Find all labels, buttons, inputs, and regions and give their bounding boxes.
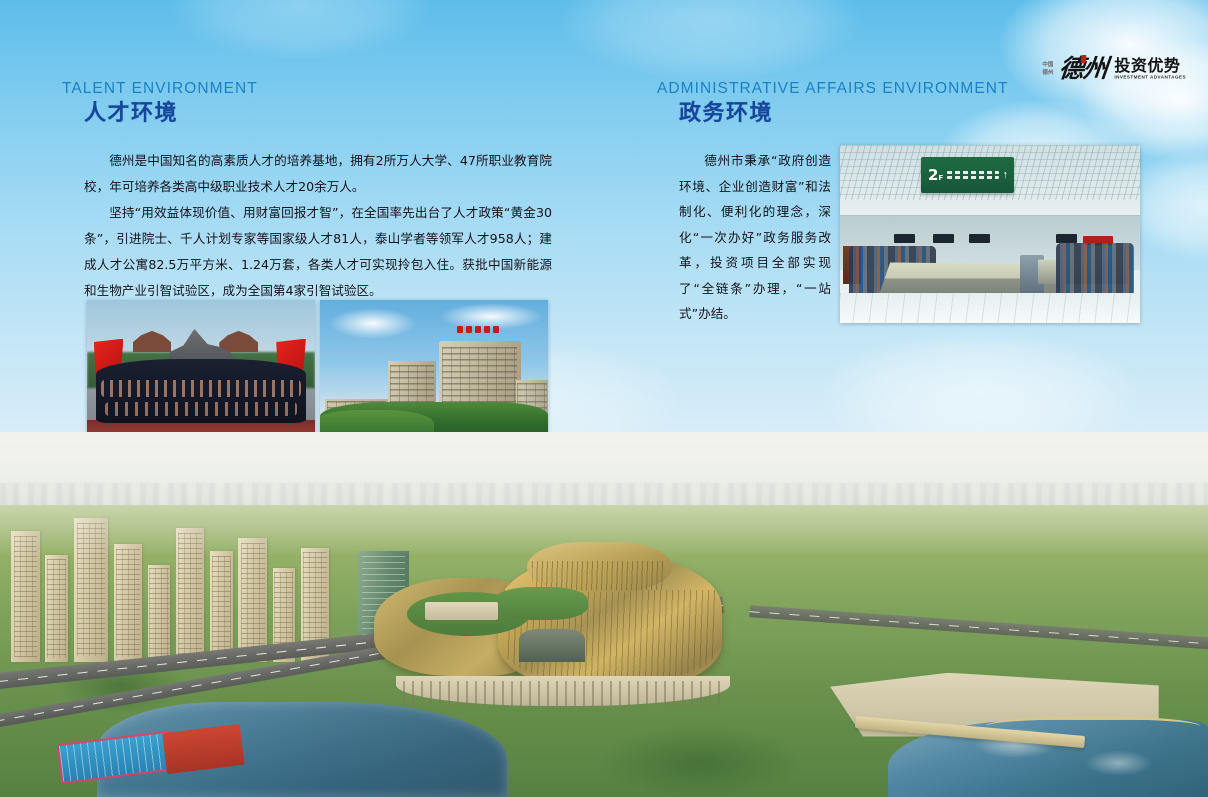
- talent-apartment-photo: [320, 300, 548, 438]
- floor-direction-sign: 2F ↑: [921, 157, 1014, 193]
- dezhou-city-aerial-panorama: [0, 432, 1208, 797]
- apartment-block: [114, 544, 142, 662]
- section-administrative-environment: ADMINISTRATIVE AFFAIRS ENVIRONMENT 政务环境 …: [657, 80, 1157, 129]
- arrow-up-icon: ↑: [1003, 169, 1015, 181]
- rooftop-char: [493, 326, 499, 333]
- service-hall-photo: 2F ↑: [840, 145, 1140, 323]
- photo-monitor: [1056, 234, 1077, 243]
- photo-monitor: [933, 234, 954, 243]
- section-title-en-administrative: ADMINISTRATIVE AFFAIRS ENVIRONMENT: [657, 80, 1157, 98]
- rooftop-char: [484, 326, 490, 333]
- rooftop-char: [475, 326, 481, 333]
- running-track: [162, 723, 245, 774]
- apartment-block: [11, 531, 39, 662]
- photo-queue-people-right: [1056, 243, 1134, 296]
- apartment-block: [176, 528, 204, 662]
- floor-number: 2F: [921, 168, 943, 183]
- section-title-cn-talent: 人才环境: [84, 99, 562, 129]
- apartment-block: [148, 565, 171, 662]
- brochure-page: 中国 德州 德州 投资优势 INVESTMENT ADVANTAGES TALE…: [0, 0, 1208, 797]
- sign-text-line: [947, 171, 998, 174]
- logo-seal-line-1: 中国: [1042, 62, 1053, 68]
- photo-rooftop-sign: [443, 326, 514, 333]
- apartment-block: [74, 518, 108, 662]
- cloud-decoration: [170, 0, 430, 60]
- talent-paragraph-2: 坚持“用效益体现价值、用财富回报才智”，在全国率先出台了人才政策“黄金30条”，…: [84, 200, 552, 304]
- section-title-en-talent: TALENT ENVIRONMENT: [62, 80, 562, 98]
- photo-crowd-faces-row-1: [101, 380, 302, 397]
- rooftop-char: [466, 326, 472, 333]
- culture-center-roof-box: [425, 602, 497, 620]
- logo-seal-mark: 中国 德州: [1040, 56, 1055, 82]
- logo-tagline-group: 投资优势 INVESTMENT ADVANTAGES: [1114, 57, 1186, 81]
- section-talent-environment: TALENT ENVIRONMENT 人才环境 德州是中国知名的高素质人才的培养…: [62, 80, 562, 129]
- swimming-pool: [57, 730, 176, 784]
- panorama-golden-culture-center: [374, 542, 736, 710]
- apartment-block: [45, 555, 68, 662]
- panorama-riverside-plaza: [797, 629, 1208, 797]
- photo-cloud: [329, 308, 416, 338]
- sign-text-lines: [943, 171, 1002, 179]
- section-title-cn-administrative: 政务环境: [679, 99, 1157, 129]
- logo-tagline-cn: 投资优势: [1114, 57, 1186, 74]
- talent-group-photo: [87, 300, 315, 438]
- culture-center-entrance: [519, 629, 584, 663]
- logo-city-name: 德州: [1058, 56, 1109, 82]
- administrative-paragraph-1: 德州市秉承“政府创造环境、企业创造财富”和法制化、便利化的理念，深化“一次办好”…: [679, 148, 831, 327]
- logo-seal-line-2: 德州: [1042, 70, 1053, 76]
- floor-number-value: 2: [928, 166, 938, 184]
- administrative-body-text: 德州市秉承“政府创造环境、企业创造财富”和法制化、便利化的理念，深化“一次办好”…: [679, 148, 831, 327]
- talent-body-text: 德州是中国知名的高素质人才的培养基地，拥有2所万人大学、47所职业教育院校，年可…: [84, 148, 552, 304]
- photo-monitor: [969, 234, 990, 243]
- culture-center-rooftop-volume: [527, 542, 672, 592]
- apartment-block: [238, 538, 266, 662]
- photo-monitor: [894, 234, 915, 243]
- rooftop-char: [457, 326, 463, 333]
- apartment-block: [210, 551, 233, 662]
- cloud-decoration: [560, 0, 860, 80]
- photo-crowd-faces-row-2: [105, 402, 297, 416]
- sign-text-line: [947, 176, 998, 179]
- culture-center-green-roof-2: [494, 587, 588, 621]
- culture-center-colonnade: [396, 676, 729, 706]
- talent-paragraph-1: 德州是中国知名的高素质人才的培养基地，拥有2所万人大学、47所职业教育院校，年可…: [84, 148, 552, 200]
- photo-polished-floor: [840, 293, 1140, 323]
